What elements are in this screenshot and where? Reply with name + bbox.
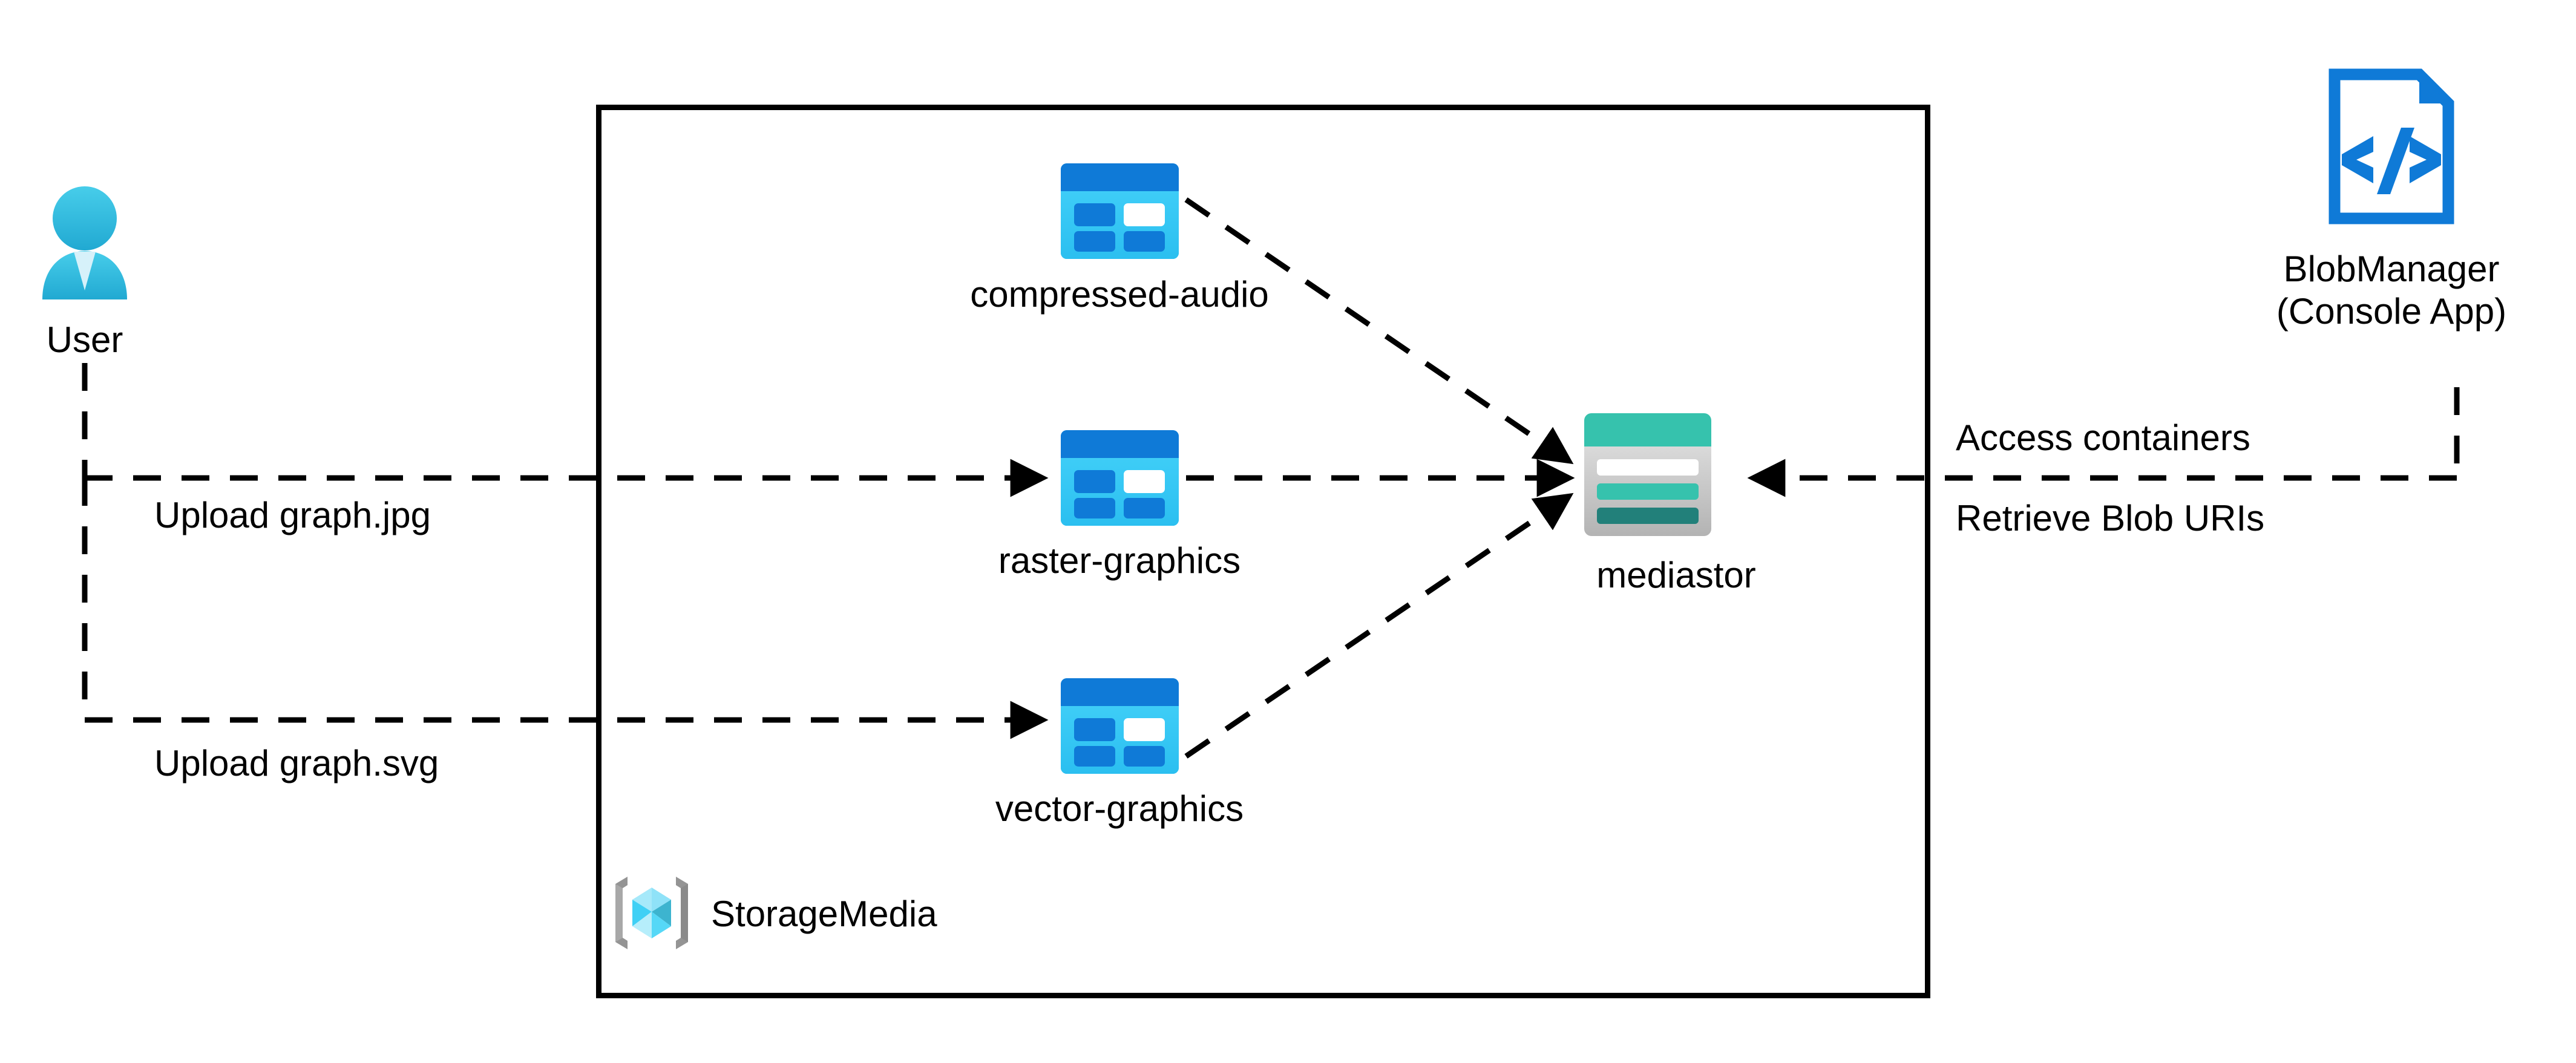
container-icon-cell-4 <box>1124 231 1165 252</box>
container-icon-cell-2 <box>1124 718 1165 741</box>
storage-icon-bar-white <box>1597 459 1699 476</box>
container-icon-cell-2 <box>1124 470 1165 493</box>
container-icon-cell-1 <box>1074 203 1115 226</box>
flow-label-upload-svg: Upload graph.svg <box>154 743 439 783</box>
user-label: User <box>47 319 123 360</box>
container-icon-cell-1 <box>1074 470 1115 493</box>
container-icon-header <box>1061 678 1179 706</box>
blobmanager-label-line1: BlobManager <box>2284 249 2500 289</box>
container-icon-cell-3 <box>1074 498 1115 518</box>
blobmanager-label-line2: (Console App) <box>2276 291 2506 332</box>
blob-container-icon-compressed-audio <box>1061 163 1179 259</box>
storage-account-icon <box>1584 413 1711 536</box>
container-icon-cell-3 <box>1074 231 1115 252</box>
container-label-vector-graphics: vector-graphics <box>995 788 1244 829</box>
storage-icon-bar-dark <box>1597 508 1699 524</box>
container-icon-cell-4 <box>1124 498 1165 518</box>
container-icon-cell-4 <box>1124 746 1165 767</box>
flow-label-upload-jpg: Upload graph.jpg <box>154 495 431 535</box>
resource-group-boundary <box>596 105 1930 998</box>
diagram-canvas: StorageMedia User Upload graph.jpg Uploa… <box>0 0 2576 1063</box>
flow-label-retrieve-blob-uris: Retrieve Blob URIs <box>1956 498 2264 538</box>
resource-group-label: StorageMedia <box>711 894 937 934</box>
flow-label-access-containers: Access containers <box>1956 417 2250 458</box>
container-label-raster-graphics: raster-graphics <box>998 540 1240 581</box>
user-avatar-icon <box>36 185 133 299</box>
container-icon-header <box>1061 430 1179 458</box>
container-icon-header <box>1061 163 1179 191</box>
container-icon-cell-1 <box>1074 718 1115 741</box>
code-document-icon <box>2329 68 2454 224</box>
blob-container-icon-raster-graphics <box>1061 430 1179 526</box>
blob-container-icon-vector-graphics <box>1061 678 1179 774</box>
storage-icon-bar-teal <box>1597 483 1699 500</box>
container-icon-cell-3 <box>1074 746 1115 767</box>
storage-account-label: mediastor <box>1596 555 1755 595</box>
container-icon-cell-2 <box>1124 203 1165 226</box>
resource-group-cube-icon <box>614 873 689 953</box>
container-label-compressed-audio: compressed-audio <box>970 274 1269 315</box>
storage-icon-header <box>1584 413 1711 446</box>
